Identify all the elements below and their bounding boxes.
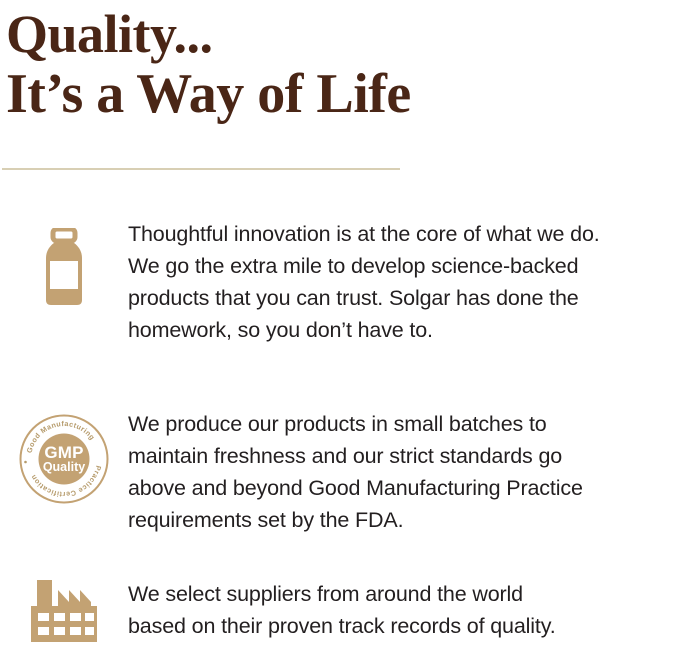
feature-list: Thoughtful innovation is at the core of …: [0, 196, 679, 666]
feature-paragraph: We produce our products in small batches…: [128, 408, 679, 536]
feature-icon-cell: Good Manufacturing Practice Certificatio…: [0, 386, 128, 506]
gmp-center-sub: Quality: [43, 460, 85, 474]
feature-icon-cell: [0, 196, 128, 306]
feature-icon-cell: [0, 576, 128, 644]
page-title-line-1: Quality...: [6, 4, 666, 64]
page-title-line-2: It’s a Way of Life: [6, 64, 666, 124]
supplement-bottle-icon: [36, 228, 92, 306]
feature-paragraph: Thoughtful innovation is at the core of …: [128, 218, 679, 346]
list-item: Thoughtful innovation is at the core of …: [0, 196, 679, 386]
section-divider: [2, 168, 400, 170]
feature-text-cell: We select suppliers from around the worl…: [128, 576, 679, 642]
quality-page: Quality... It’s a Way of Life Thoughtful…: [0, 0, 679, 664]
feature-text-cell: We produce our products in small batches…: [128, 386, 679, 536]
factory-icon: [25, 578, 103, 644]
list-item: We select suppliers from around the worl…: [0, 576, 679, 666]
gmp-quality-seal-icon: Good Manufacturing Practice Certificatio…: [17, 412, 111, 506]
list-item: Good Manufacturing Practice Certificatio…: [0, 386, 679, 576]
feature-text-cell: Thoughtful innovation is at the core of …: [128, 196, 679, 346]
feature-paragraph: We select suppliers from around the worl…: [128, 578, 679, 642]
page-title: Quality... It’s a Way of Life: [6, 4, 666, 124]
